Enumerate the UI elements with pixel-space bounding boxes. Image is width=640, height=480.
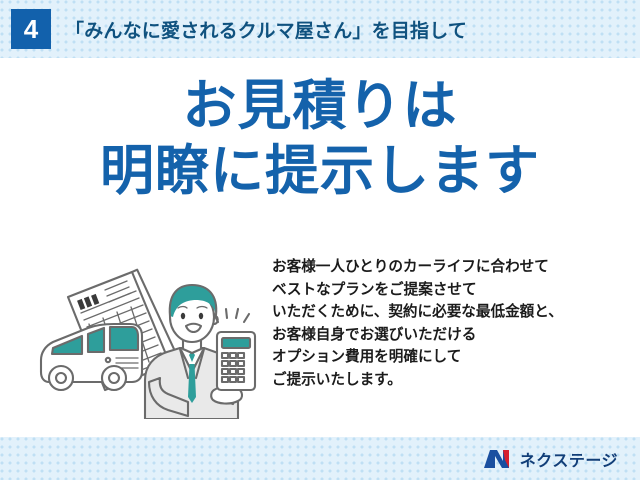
paragraph-line: オプション費用を明確にして	[272, 346, 634, 369]
paragraph-line: ベストなプランをご提案させて	[272, 279, 634, 302]
headline-line-2: 明瞭に提示します	[0, 143, 640, 198]
footer-band: ネクステージ	[0, 437, 640, 480]
paragraph-line: お客様自身でお選びいただける	[272, 324, 634, 347]
eye-left	[181, 313, 185, 319]
paragraph-line: ご提示いたします。	[272, 369, 634, 392]
header-title: 「みんなに愛されるクルマ屋さん」を目指して	[65, 16, 467, 43]
page-title: お見積りは 明瞭に提示します	[0, 78, 640, 198]
brand-name: ネクステージ	[520, 447, 618, 471]
eye-right	[199, 313, 203, 319]
section-number-badge: 4	[11, 9, 51, 49]
header-band: 4 「みんなに愛されるクルマ屋さん」を目指して	[0, 0, 640, 58]
sparkle-icon	[214, 309, 249, 322]
calculator	[217, 332, 255, 390]
calculator-display	[222, 338, 250, 348]
description-paragraph: お客様一人ひとりのカーライフに合わせて ベストなプランをご提案させて いただくた…	[272, 256, 634, 392]
van-wheel-front	[102, 366, 126, 390]
headline-line-1: お見積りは	[0, 78, 640, 133]
brand-logo: ネクステージ	[483, 437, 618, 480]
promo-slide: 4 「みんなに愛されるクルマ屋さん」を目指して お見積りは 明瞭に提示します お…	[0, 0, 640, 480]
nextage-n-logo-icon	[483, 448, 513, 470]
illustration-svg: .ol { fill:#ffffff; stroke:#6b6b6b; stro…	[28, 254, 266, 419]
salesperson-illustration: .ol { fill:#ffffff; stroke:#6b6b6b; stro…	[28, 254, 266, 419]
header-content: 4 「みんなに愛されるクルマ屋さん」を目指して	[0, 0, 640, 58]
paragraph-line: お客様一人ひとりのカーライフに合わせて	[272, 256, 634, 279]
van-illustration	[41, 324, 142, 390]
main-content: お見積りは 明瞭に提示します お客様一人ひとりのカーライフに合わせて ベストなプ…	[0, 58, 640, 437]
paragraph-line: いただくために、契約に必要な最低金額と、	[272, 301, 634, 324]
van-wheel-rear	[49, 366, 73, 390]
